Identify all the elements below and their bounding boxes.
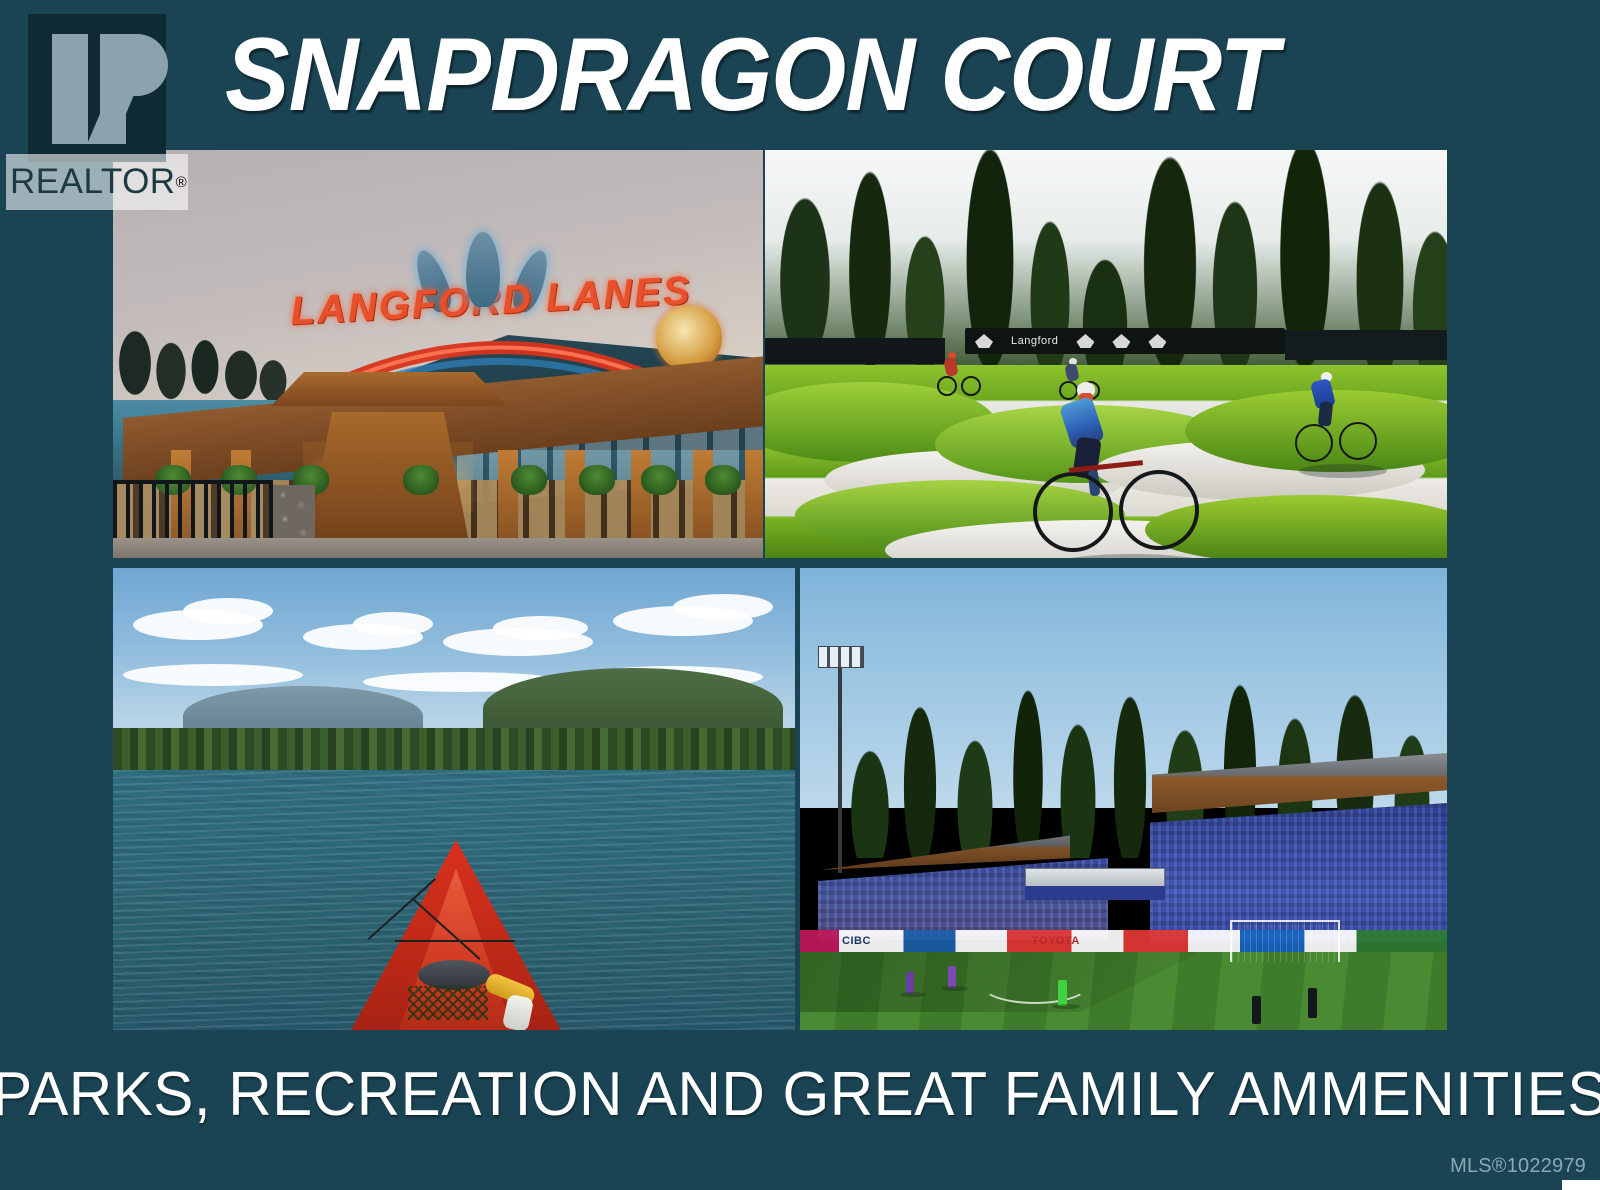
soccer-stadium-photo[interactable]: CIBC TOYOTA [800,568,1447,1030]
stadium-press-banner [1025,886,1165,900]
realtor-wordmark: REALTOR® [6,154,188,210]
realtor-wordmark-text: REALTOR [6,162,176,202]
sponsor-logo-icon-3 [1112,334,1130,348]
player-shadow [900,992,926,997]
bowling-entry-gable [271,372,507,406]
pumptrack-right-wall [1285,330,1447,360]
official [1252,996,1261,1024]
realtor-logo: REALTOR® [6,14,188,210]
realtor-mark-leg [87,76,142,144]
bowling-pavement [113,538,763,558]
player [948,966,956,988]
pumptrack-sponsor-banner: Langford [965,328,1285,354]
sponsor-logo-icon-2 [1076,334,1094,348]
floodlight-pole [838,658,842,873]
stadium-advertising-boards: CIBC TOYOTA [800,930,1447,952]
cloud [493,616,588,640]
stadium-goal-net [1230,920,1340,962]
cloud [673,594,773,620]
ad-board-cibc: CIBC [842,930,871,952]
goalkeeper [1058,980,1067,1006]
kayak-shoreline-trees [113,728,795,776]
pump-track-cycling-photo[interactable]: Langford [765,150,1447,558]
pumptrack-banner-text: Langford [1011,335,1058,347]
player-shadow [1052,1004,1080,1009]
bowling-trees [113,305,288,410]
official [1308,988,1317,1018]
corner-marker [1562,1180,1600,1190]
sponsor-logo-icon [975,334,993,348]
header-bar: SNAPDRAGON COURT REALTOR® [0,0,1600,150]
footer-caption: PARKS, RECREATION AND GREAT FAMILY AMMEN… [24,1058,1576,1130]
cloud [123,664,303,686]
kayak-deck-cord [395,940,515,942]
stadium-centre-arc [980,964,1090,1004]
kayak-cargo-net [408,986,488,1020]
player-shadow [942,986,968,991]
langford-lanes-bowling-photo[interactable]: LANGFORD LANES [113,150,763,558]
page-title: SNAPDRAGON COURT [225,15,1322,135]
cloud [353,612,433,636]
pumptrack-left-wall [765,338,945,364]
mls-number: MLS®1022979 [1450,1155,1586,1178]
ad-board-toyota: TOYOTA [1032,930,1080,952]
floodlight-icon [818,646,864,668]
sponsor-logo-icon-4 [1148,334,1166,348]
photo-collage: LANGFORD LANES [113,150,1447,1030]
realtor-mark-bar [52,34,88,144]
registered-mark-icon: ® [176,174,187,191]
cloud [183,598,273,624]
kayaking-lake-photo[interactable] [113,568,795,1030]
realtor-r-mark [28,14,166,162]
player [906,972,914,994]
